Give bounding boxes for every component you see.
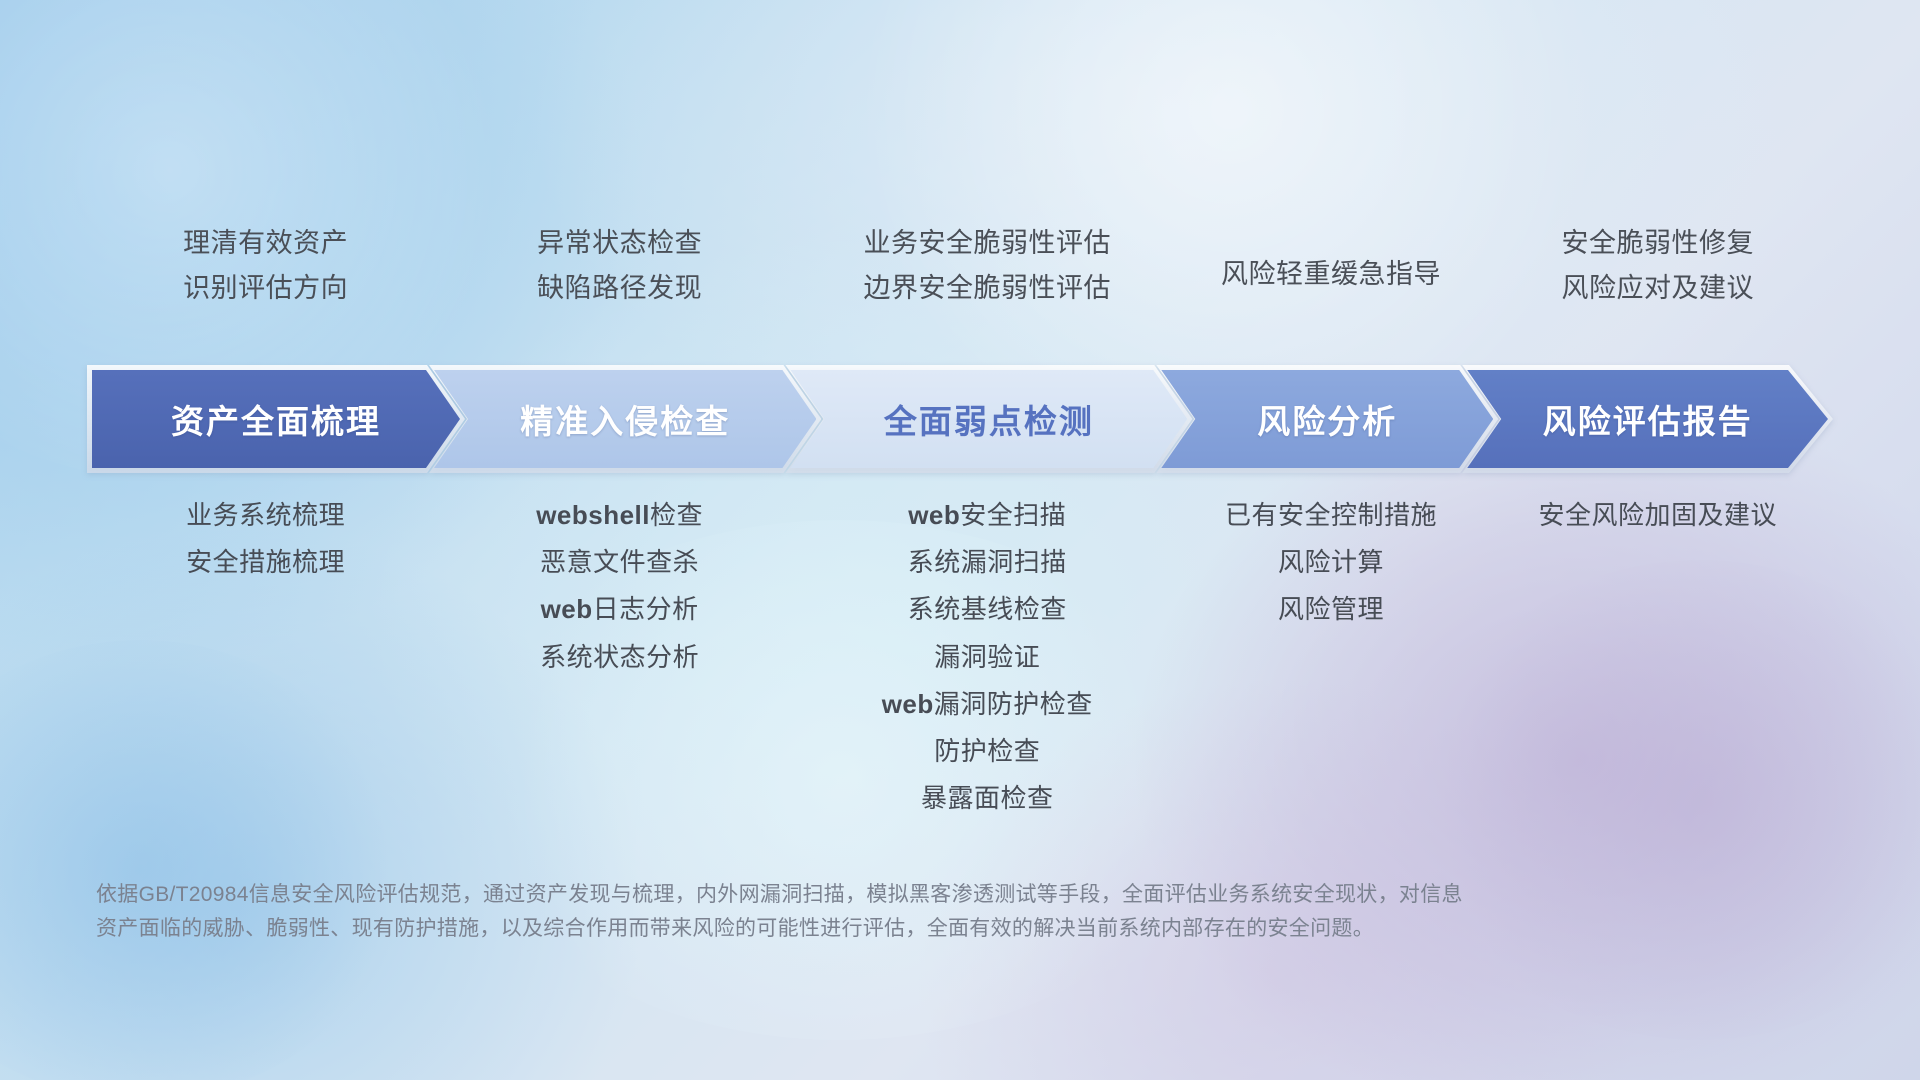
top-annotation-item: 业务安全脆弱性评估 <box>863 228 1111 259</box>
detail-list-item: 系统基线检查 <box>908 594 1067 625</box>
detail-list-item: 安全措施梳理 <box>186 547 345 578</box>
detail-list-column-5: 安全风险加固及建议 <box>1488 500 1828 531</box>
detail-list-item: 暴露面检查 <box>921 783 1054 814</box>
top-annotation-item: 边界安全脆弱性评估 <box>863 273 1111 304</box>
process-stage-5[interactable]: 风险评估报告 <box>1467 370 1828 468</box>
footer-line-2: 资产面临的威胁、脆弱性、现有防护措施，以及综合作用而带来风险的可能性进行评估，全… <box>96 912 1656 946</box>
detail-list-item: 安全风险加固及建议 <box>1539 500 1778 531</box>
detail-list-item: 风险计算 <box>1278 547 1384 578</box>
stage-label: 全面弱点检测 <box>884 395 1094 443</box>
top-annotation-column-2: 异常状态检查缺陷路径发现 <box>439 228 800 348</box>
detail-list-item: 恶意文件查杀 <box>540 547 699 578</box>
process-stage-3[interactable]: 全面弱点检测 <box>790 370 1187 468</box>
top-annotation-column-5: 安全脆弱性修复风险应对及建议 <box>1488 228 1828 348</box>
process-stage-4[interactable]: 风险分析 <box>1161 370 1493 468</box>
top-annotation-column-4: 风险轻重缓急指导 <box>1174 228 1487 348</box>
stage-label: 风险分析 <box>1257 395 1397 443</box>
process-chevron-banner: 资产全面梳理精准入侵检查全面弱点检测风险分析风险评估报告 <box>92 370 1828 468</box>
detail-item-text: 漏洞防护检查 <box>934 689 1093 719</box>
top-annotation-item: 缺陷路径发现 <box>537 273 702 304</box>
detail-list-item: webshell检查 <box>536 500 703 531</box>
detail-list-item: 漏洞验证 <box>934 642 1040 673</box>
top-annotation-item: 安全脆弱性修复 <box>1562 228 1755 259</box>
background-bloom-2 <box>780 0 1680 420</box>
top-annotations-row: 理清有效资产识别评估方向异常状态检查缺陷路径发现业务安全脆弱性评估边界安全脆弱性… <box>92 228 1828 348</box>
detail-item-text: 日志分析 <box>593 594 699 624</box>
top-annotation-item: 风险轻重缓急指导 <box>1221 259 1441 290</box>
detail-item-text: 安全扫描 <box>960 500 1066 530</box>
top-annotation-column-3: 业务安全脆弱性评估边界安全脆弱性评估 <box>800 228 1174 348</box>
footer-description: 依据GB/T20984信息安全风险评估规范，通过资产发现与梳理，内外网漏洞扫描，… <box>96 878 1656 946</box>
top-annotation-item: 风险应对及建议 <box>1562 273 1755 304</box>
detail-item-prefix: web <box>541 594 593 624</box>
top-annotation-item: 识别评估方向 <box>183 273 348 304</box>
detail-list-item: 业务系统梳理 <box>186 500 345 531</box>
bottom-detail-row: 业务系统梳理安全措施梳理webshell检查恶意文件查杀web日志分析系统状态分… <box>92 500 1828 814</box>
detail-list-column-2: webshell检查恶意文件查杀web日志分析系统状态分析 <box>439 500 800 673</box>
detail-list-column-4: 已有安全控制措施风险计算风险管理 <box>1174 500 1487 626</box>
process-stage-1[interactable]: 资产全面梳理 <box>92 370 460 468</box>
detail-list-item: web日志分析 <box>541 594 699 625</box>
detail-list-column-1: 业务系统梳理安全措施梳理 <box>92 500 439 578</box>
detail-list-item: 系统漏洞扫描 <box>908 547 1067 578</box>
detail-list-column-3: web安全扫描系统漏洞扫描系统基线检查漏洞验证web漏洞防护检查防护检查暴露面检… <box>800 500 1174 814</box>
process-stage-2[interactable]: 精准入侵检查 <box>434 370 816 468</box>
detail-item-prefix: web <box>882 689 934 719</box>
detail-list-item: 已有安全控制措施 <box>1225 500 1437 531</box>
footer-line-1: 依据GB/T20984信息安全风险评估规范，通过资产发现与梳理，内外网漏洞扫描，… <box>96 878 1656 912</box>
top-annotation-item: 异常状态检查 <box>537 228 702 259</box>
detail-list-item: web安全扫描 <box>908 500 1066 531</box>
stage-label: 资产全面梳理 <box>171 395 381 443</box>
detail-item-prefix: webshell <box>536 500 650 530</box>
detail-list-item: 风险管理 <box>1278 594 1384 625</box>
detail-item-prefix: web <box>908 500 960 530</box>
stage-label: 风险评估报告 <box>1543 395 1753 443</box>
detail-list-item: web漏洞防护检查 <box>882 689 1093 720</box>
detail-list-item: 防护检查 <box>934 736 1040 767</box>
top-annotation-item: 理清有效资产 <box>183 228 348 259</box>
top-annotation-column-1: 理清有效资产识别评估方向 <box>92 228 439 348</box>
slide-canvas: 理清有效资产识别评估方向异常状态检查缺陷路径发现业务安全脆弱性评估边界安全脆弱性… <box>0 0 1920 1080</box>
detail-item-text: 检查 <box>650 500 703 530</box>
detail-list-item: 系统状态分析 <box>540 642 699 673</box>
stage-label: 精准入侵检查 <box>520 395 730 443</box>
